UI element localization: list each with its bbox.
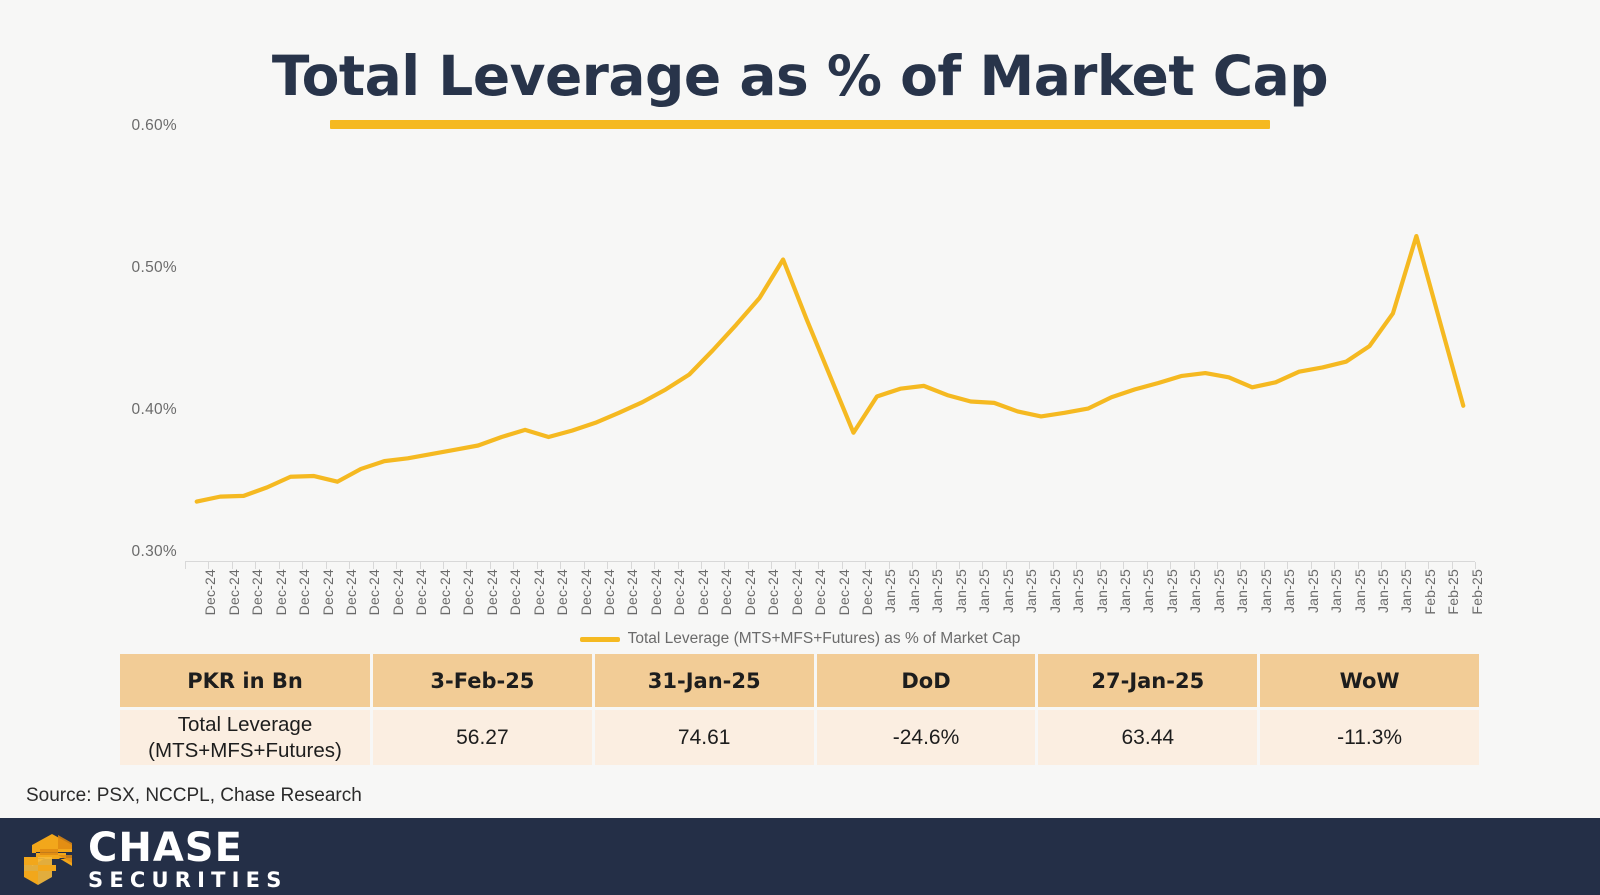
x-axis-tick-label: Feb-25 [1422, 569, 1438, 615]
chart-page: Total Leverage as % of Market Cap 0.30%0… [0, 0, 1600, 895]
x-axis-tick-mark [936, 562, 937, 569]
x-axis-tick-mark [748, 562, 749, 569]
x-axis-tick-label: Dec-24 [836, 569, 852, 615]
x-axis-tick-mark [1123, 562, 1124, 569]
table-row: Total Leverage(MTS+MFS+Futures)56.2774.6… [120, 710, 1479, 765]
x-axis-tick-label: Dec-24 [671, 569, 687, 615]
source-note: Source: PSX, NCCPL, Chase Research [26, 785, 362, 807]
x-axis-tick-mark [185, 562, 186, 569]
chart-legend: Total Leverage (MTS+MFS+Futures) as % of… [0, 630, 1600, 648]
brand-logo: CHASE SECURITIES [22, 828, 288, 891]
x-axis-tick-mark [326, 562, 327, 569]
x-axis-tick-mark [654, 562, 655, 569]
x-axis-tick-label: Jan-25 [1187, 569, 1203, 613]
x-axis-tick-mark [302, 562, 303, 569]
chart-plot-area: 0.30%0.40%0.50%0.60% [0, 0, 1600, 640]
table-column-header: PKR in Bn [120, 654, 370, 707]
x-axis-tick-label: Jan-25 [1305, 569, 1321, 613]
x-axis-tick-mark [982, 562, 983, 569]
chase-s-logo-icon [22, 832, 74, 888]
x-axis-tick-label: Dec-24 [460, 569, 476, 615]
x-axis-tick-mark [795, 562, 796, 569]
table-column-header: 27-Jan-25 [1038, 654, 1257, 707]
legend-label: Total Leverage (MTS+MFS+Futures) as % of… [628, 630, 1021, 648]
x-axis-tick-label: Dec-24 [531, 569, 547, 615]
x-axis-tick-label: Dec-24 [812, 569, 828, 615]
brand-text: CHASE SECURITIES [88, 828, 288, 891]
x-axis-tick-mark [889, 562, 890, 569]
x-axis-tick-label: Jan-25 [1211, 569, 1227, 613]
x-axis-tick-label: Dec-24 [226, 569, 242, 615]
x-axis-tick-mark [912, 562, 913, 569]
x-axis-tick-mark [1287, 562, 1288, 569]
x-axis-tick-mark [490, 562, 491, 569]
brand-name: CHASE [88, 828, 288, 868]
x-axis-tick-mark [1029, 562, 1030, 569]
x-axis-tick-label: Dec-24 [718, 569, 734, 615]
table-cell: 63.44 [1038, 710, 1257, 765]
x-axis-tick-mark [349, 562, 350, 569]
x-axis-tick-label: Dec-24 [296, 569, 312, 615]
x-axis-tick-label: Jan-25 [1258, 569, 1274, 613]
x-axis-tick-mark [678, 562, 679, 569]
x-axis-tick-label: Jan-25 [1164, 569, 1180, 613]
x-axis-ticks [185, 562, 1475, 569]
legend-swatch-icon [580, 637, 620, 642]
x-axis-tick-label: Jan-25 [1234, 569, 1250, 613]
y-axis-tick-label: 0.30% [132, 543, 177, 561]
x-axis-tick-label: Dec-24 [390, 569, 406, 615]
x-axis-tick-mark [631, 562, 632, 569]
x-axis-tick-mark [1170, 562, 1171, 569]
table-column-header: DoD [817, 654, 1036, 707]
x-axis-tick-mark [208, 562, 209, 569]
x-axis-tick-label: Dec-24 [624, 569, 640, 615]
x-axis-tick-label: Dec-24 [648, 569, 664, 615]
x-axis-tick-label: Dec-24 [413, 569, 429, 615]
x-axis-tick-label: Dec-24 [765, 569, 781, 615]
table-cell: 56.27 [373, 710, 592, 765]
x-axis-tick-label: Feb-25 [1469, 569, 1485, 615]
x-axis-tick-mark [420, 562, 421, 569]
x-axis-tick-mark [255, 562, 256, 569]
x-axis-tick-mark [584, 562, 585, 569]
x-axis-tick-label: Jan-25 [1000, 569, 1016, 613]
x-axis-tick-label: Dec-24 [695, 569, 711, 615]
y-axis: 0.30%0.40%0.50%0.60% [0, 0, 190, 600]
x-axis-tick-mark [701, 562, 702, 569]
table-cell: -24.6% [817, 710, 1036, 765]
x-axis-tick-label: Dec-24 [859, 569, 875, 615]
x-axis-tick-mark [1405, 562, 1406, 569]
x-axis-tick-label: Jan-25 [1328, 569, 1344, 613]
x-axis-tick-label: Dec-24 [273, 569, 289, 615]
x-axis-tick-mark [396, 562, 397, 569]
x-axis-tick-mark [818, 562, 819, 569]
x-axis-tick-label: Feb-25 [1445, 569, 1461, 615]
x-axis-tick-mark [1053, 562, 1054, 569]
x-axis-tick-mark [1194, 562, 1195, 569]
table-cell: -11.3% [1260, 710, 1479, 765]
line-chart-svg [185, 110, 1475, 562]
x-axis-tick-label: Dec-24 [320, 569, 336, 615]
footer-bar: CHASE SECURITIES [0, 818, 1600, 895]
x-axis-tick-label: Dec-24 [601, 569, 617, 615]
x-axis-tick-label: Jan-25 [1117, 569, 1133, 613]
x-axis-tick-mark [373, 562, 374, 569]
x-axis-tick-mark [537, 562, 538, 569]
table-column-header: 31-Jan-25 [595, 654, 814, 707]
x-axis-tick-mark [279, 562, 280, 569]
x-axis-tick-label: Dec-24 [789, 569, 805, 615]
x-axis-tick-mark [1147, 562, 1148, 569]
x-axis-tick-mark [466, 562, 467, 569]
x-axis-tick-label: Jan-25 [1094, 569, 1110, 613]
x-axis-tick-mark [724, 562, 725, 569]
x-axis-tick-mark [560, 562, 561, 569]
x-axis-labels: Dec-24Dec-24Dec-24Dec-24Dec-24Dec-24Dec-… [185, 569, 1475, 629]
x-axis-tick-mark [1006, 562, 1007, 569]
x-axis-tick-label: Jan-25 [1070, 569, 1086, 613]
table-column-header: 3-Feb-25 [373, 654, 592, 707]
x-axis-tick-mark [1100, 562, 1101, 569]
x-axis-tick-label: Dec-24 [343, 569, 359, 615]
x-axis-tick-label: Jan-25 [1281, 569, 1297, 613]
x-axis-tick-label: Dec-24 [437, 569, 453, 615]
x-axis-tick-label: Jan-25 [976, 569, 992, 613]
x-axis-tick-label: Dec-24 [366, 569, 382, 615]
x-axis-tick-mark [607, 562, 608, 569]
table-cell: 74.61 [595, 710, 814, 765]
x-axis-tick-mark [232, 562, 233, 569]
table-column-header: WoW [1260, 654, 1479, 707]
x-axis-tick-mark [771, 562, 772, 569]
x-axis-tick-label: Dec-24 [507, 569, 523, 615]
x-axis-tick-label: Jan-25 [882, 569, 898, 613]
x-axis-tick-label: Dec-24 [202, 569, 218, 615]
brand-subtitle: SECURITIES [88, 870, 288, 891]
x-axis-tick-mark [1240, 562, 1241, 569]
x-axis-tick-label: Jan-25 [1398, 569, 1414, 613]
x-axis-tick-mark [1381, 562, 1382, 569]
series-line-total-leverage [197, 236, 1464, 502]
x-axis-tick-label: Jan-25 [1375, 569, 1391, 613]
x-axis-tick-mark [959, 562, 960, 569]
x-axis-tick-label: Jan-25 [1352, 569, 1368, 613]
x-axis-tick-label: Dec-24 [484, 569, 500, 615]
x-axis-tick-label: Jan-25 [929, 569, 945, 613]
x-axis-tick-label: Jan-25 [906, 569, 922, 613]
x-axis-tick-label: Dec-24 [249, 569, 265, 615]
x-axis-tick-label: Dec-24 [578, 569, 594, 615]
x-axis-tick-label: Jan-25 [1023, 569, 1039, 613]
x-axis-tick-mark [1217, 562, 1218, 569]
x-axis-tick-mark [842, 562, 843, 569]
table-row-label: Total Leverage(MTS+MFS+Futures) [120, 710, 370, 765]
x-axis-tick-mark [1334, 562, 1335, 569]
x-axis-tick-mark [1311, 562, 1312, 569]
x-axis-tick-label: Jan-25 [1140, 569, 1156, 613]
x-axis-tick-label: Dec-24 [742, 569, 758, 615]
y-axis-tick-label: 0.50% [132, 259, 177, 277]
x-axis-tick-label: Jan-25 [953, 569, 969, 613]
x-axis-tick-mark [1358, 562, 1359, 569]
x-axis-tick-label: Dec-24 [554, 569, 570, 615]
x-axis-tick-label: Jan-25 [1047, 569, 1063, 613]
y-axis-tick-label: 0.40% [132, 401, 177, 419]
x-axis-tick-mark [1264, 562, 1265, 569]
x-axis-tick-mark [865, 562, 866, 569]
x-axis-tick-mark [443, 562, 444, 569]
x-axis-tick-mark [1076, 562, 1077, 569]
summary-table: PKR in Bn3-Feb-2531-Jan-25DoD27-Jan-25Wo… [117, 651, 1482, 768]
y-axis-tick-label: 0.60% [132, 117, 177, 135]
table-header-row: PKR in Bn3-Feb-2531-Jan-25DoD27-Jan-25Wo… [120, 654, 1479, 707]
x-axis-tick-mark [513, 562, 514, 569]
